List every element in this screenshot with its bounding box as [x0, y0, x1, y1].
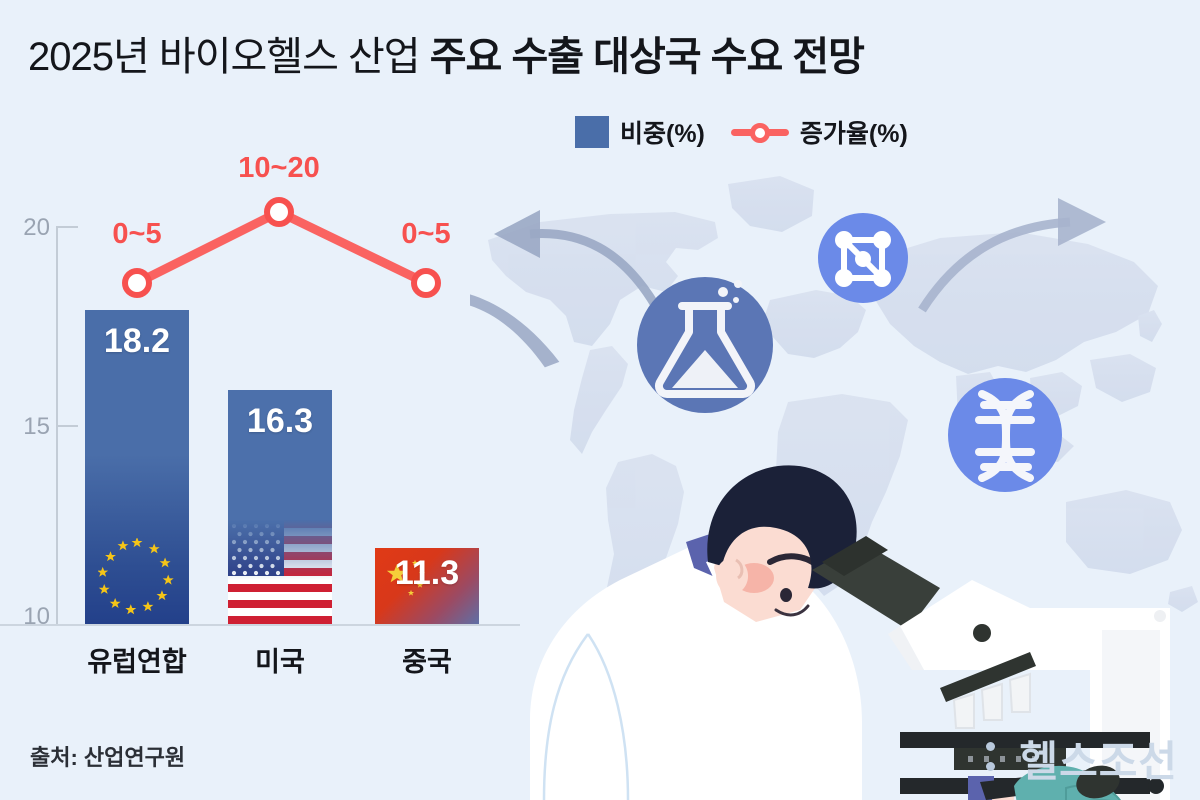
- flask-icon: [637, 277, 773, 413]
- molecule-icon: [818, 213, 908, 303]
- watermark-logo: 헬스조선: [1019, 728, 1178, 789]
- growth-label-us: 10~20: [199, 152, 359, 185]
- growth-label-cn: 0~5: [346, 218, 506, 251]
- chart-area: 20 15 10 18.2: [0, 0, 520, 800]
- illustration-panel: [470, 110, 1200, 800]
- arrow-right-head-icon: [1058, 198, 1106, 246]
- growth-point-cn: [414, 271, 438, 295]
- growth-point-eu: [125, 271, 149, 295]
- dna-icon: [948, 378, 1062, 492]
- growth-point-us: [267, 200, 291, 224]
- watermark-dots-icon: [986, 742, 995, 782]
- infographic-canvas: 2025년 바이오헬스 산업 주요 수출 대상국 수요 전망 비중(%) 증가율…: [0, 0, 1200, 800]
- growth-line-svg: [0, 0, 520, 800]
- growth-label-eu: 0~5: [57, 218, 217, 251]
- growth-line-series: 0~5 10~20 0~5: [0, 0, 520, 800]
